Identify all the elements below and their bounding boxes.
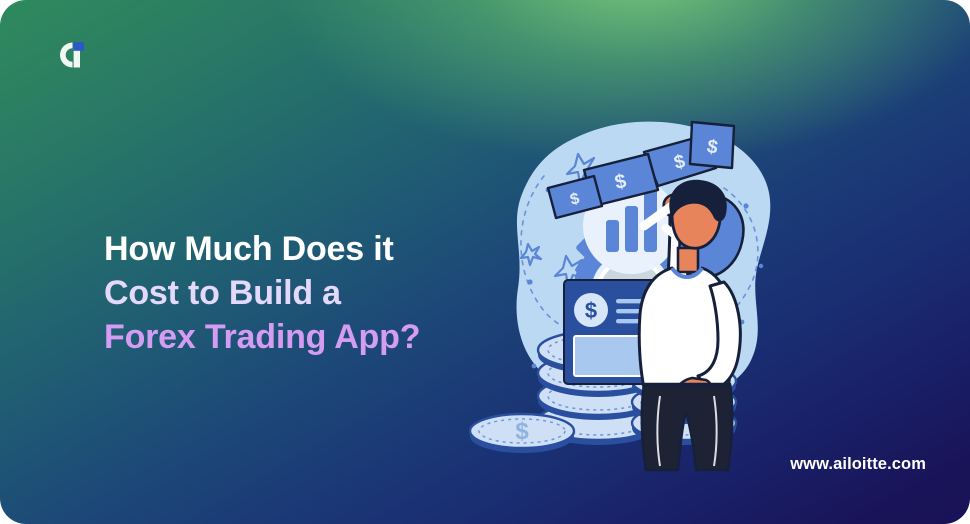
dollar-badge-icon: $ (574, 293, 608, 327)
headline-line-2: Cost to Build a (104, 271, 504, 315)
promo-banner: How Much Does it Cost to Build a Forex T… (0, 0, 970, 524)
logo-mark-icon (49, 32, 95, 78)
coin-single-left: $ (470, 414, 574, 453)
ailoitte-logo[interactable] (49, 32, 95, 78)
headline-line-3: Forex Trading App? (104, 315, 504, 359)
page-title: How Much Does it Cost to Build a Forex T… (104, 227, 504, 359)
svg-text:$: $ (515, 418, 529, 445)
headline-line-1: How Much Does it (104, 227, 504, 271)
forex-trading-illustration: $ (466, 96, 816, 496)
svg-text:$: $ (585, 298, 597, 323)
